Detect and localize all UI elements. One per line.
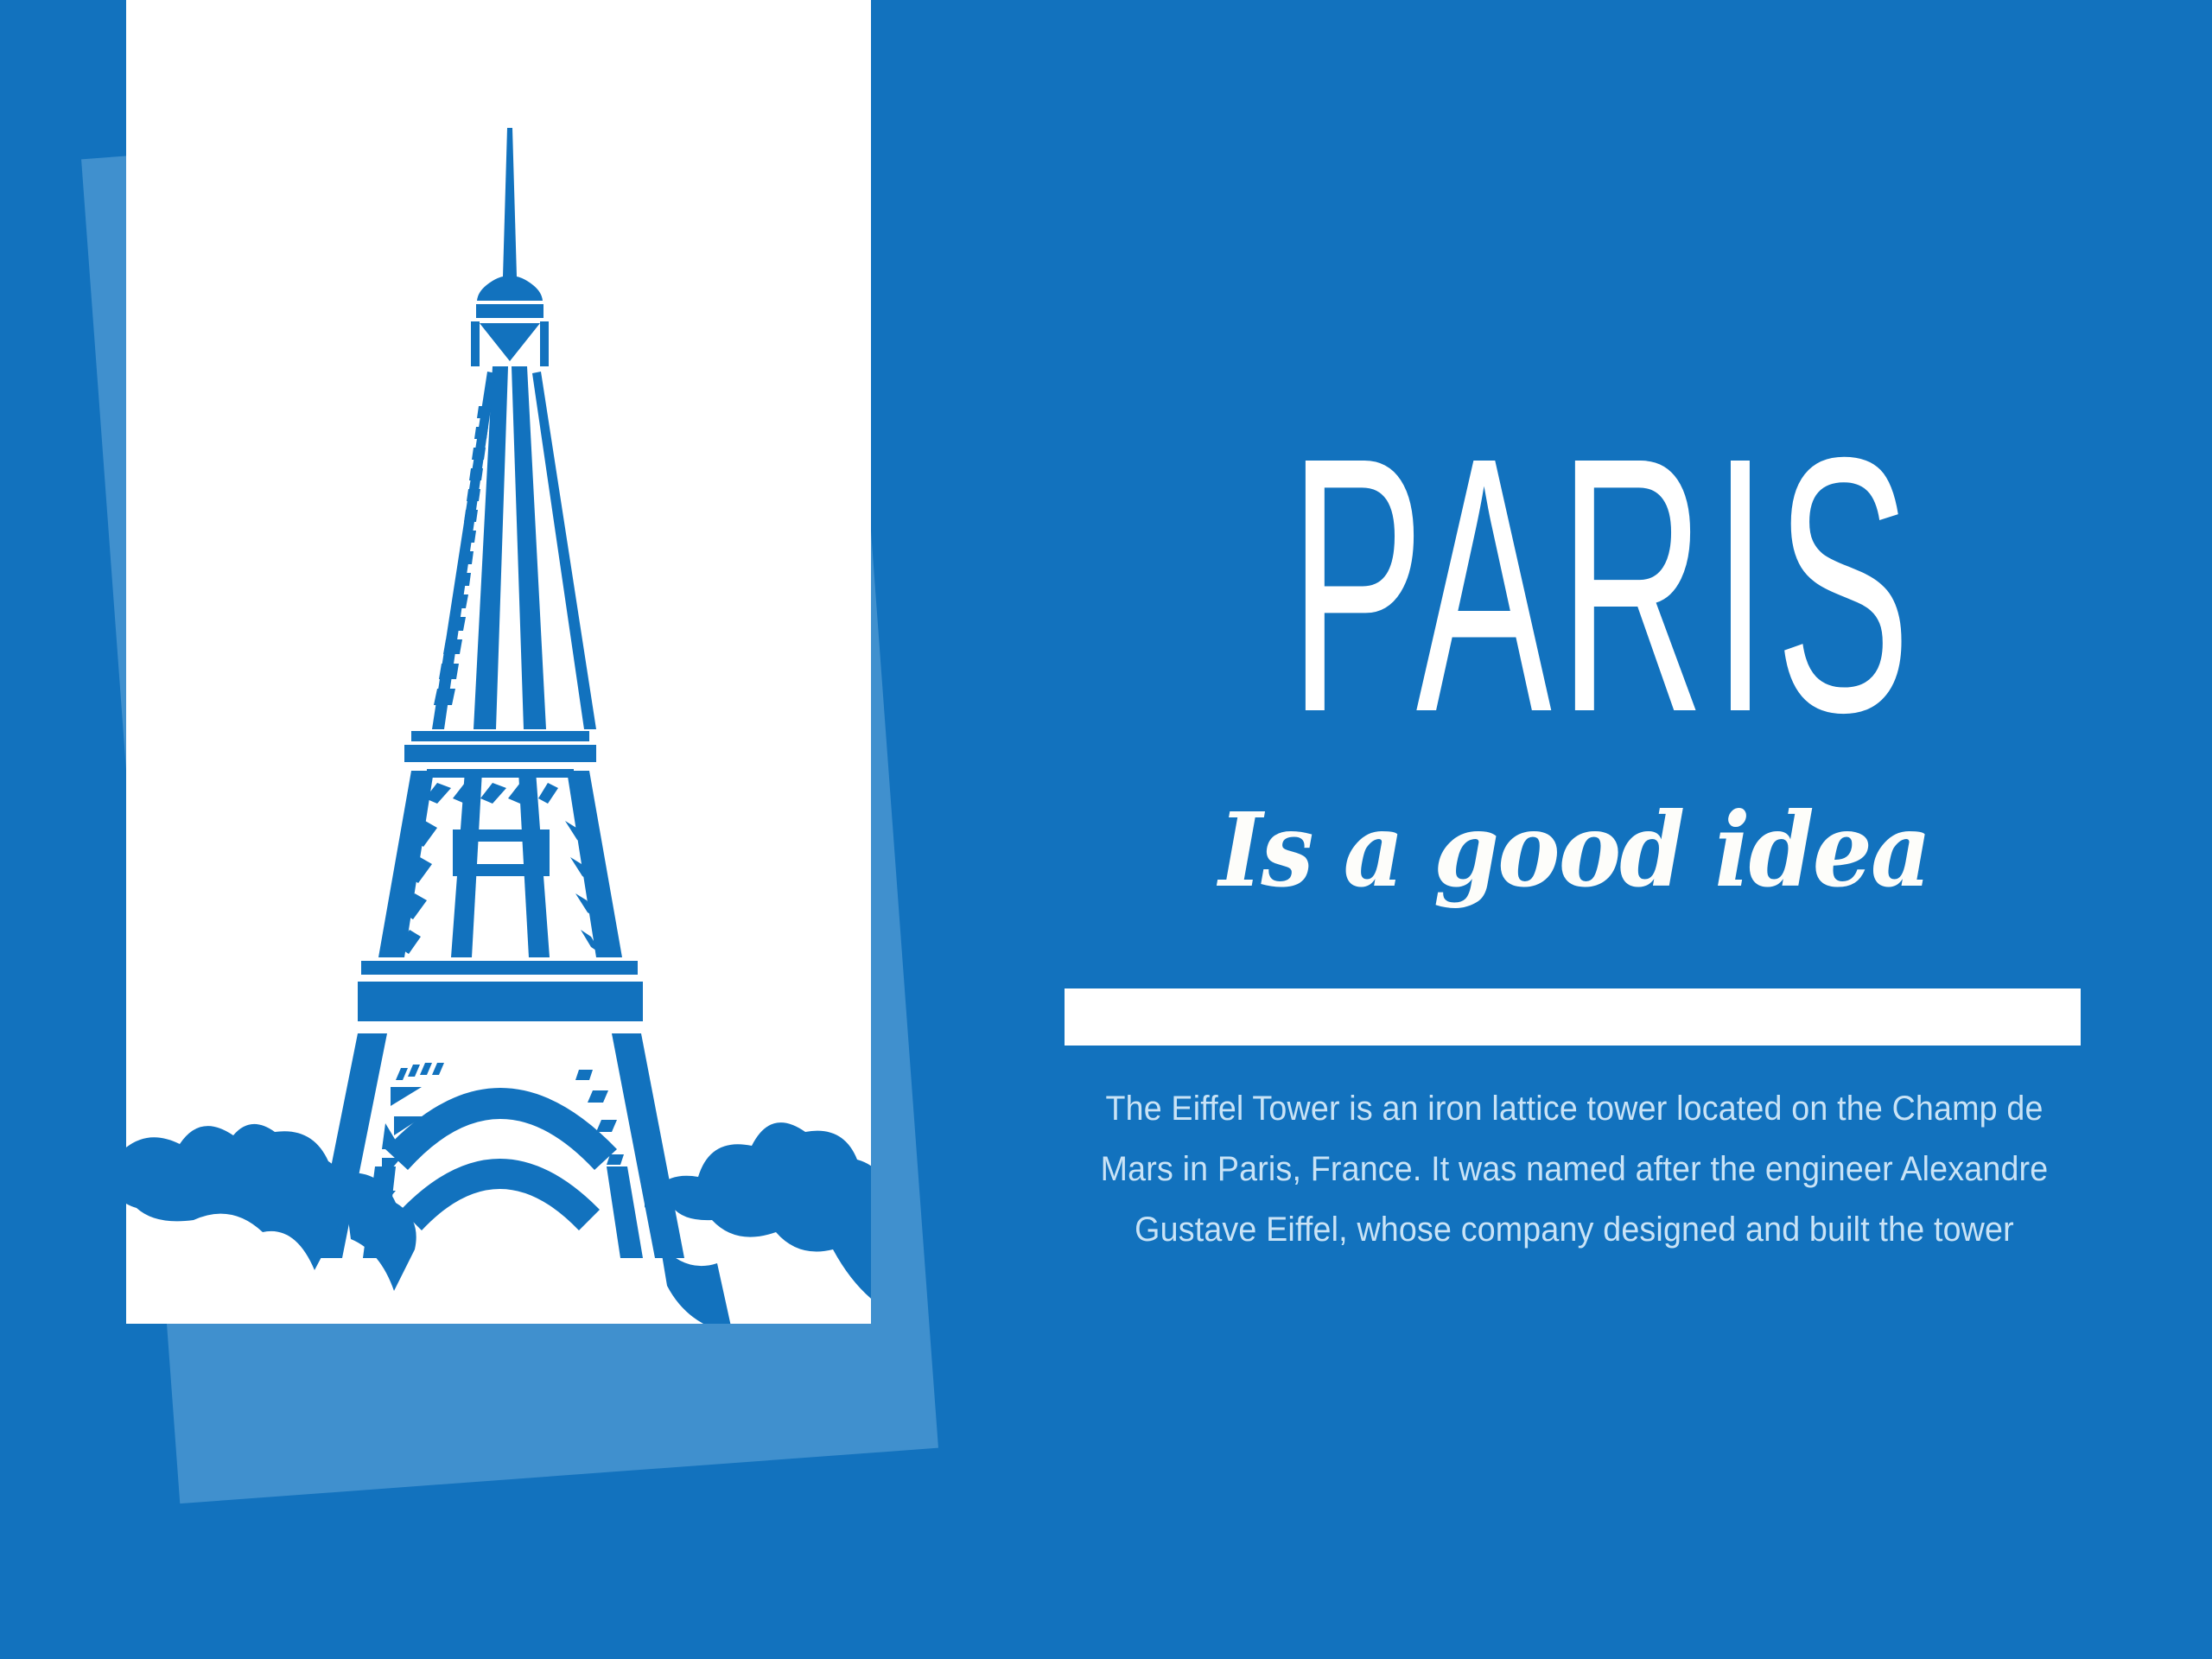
- divider-bar: [1065, 988, 2081, 1046]
- illustration-card: [126, 0, 871, 1324]
- slide-canvas: PARIS Is a good idea The Eiffel Tower is…: [0, 0, 2212, 1659]
- text-column: PARIS Is a good idea The Eiffel Tower is…: [1065, 0, 2084, 1659]
- body-paragraph: The Eiffel Tower is an iron lattice towe…: [1100, 1078, 2049, 1260]
- eiffel-tower-icon: [126, 0, 871, 1324]
- page-title: PARIS: [1289, 429, 1860, 741]
- page-subtitle: Is a good idea: [1105, 799, 2044, 901]
